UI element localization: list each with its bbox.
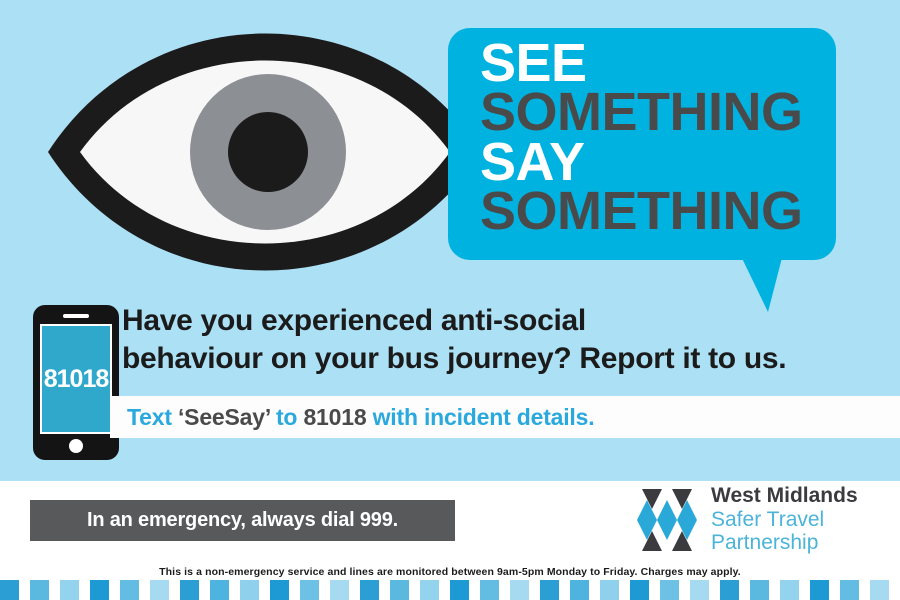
logo-line-1: West Midlands [711, 484, 858, 508]
strip-cell [420, 580, 439, 600]
strip-cell [210, 580, 229, 600]
phone-screen: 81018 [40, 324, 112, 434]
slogan-line-something-1: SOMETHING [480, 87, 830, 138]
strip-cell [810, 580, 829, 600]
instruction-part-3: 81018 [303, 404, 366, 430]
logo-wordmark: West Midlands Safer Travel Partnership [711, 484, 858, 555]
strip-cell [540, 580, 559, 600]
strip-cell [390, 580, 409, 600]
slogan: SEE SOMETHING SAY SOMETHING [480, 38, 830, 235]
headline-line-2: behaviour on your bus journey? Report it… [122, 340, 882, 378]
west-midlands-safer-travel-logo: West Midlands Safer Travel Partnership [633, 487, 858, 555]
strip-cell [690, 580, 709, 600]
eye-icon [40, 22, 490, 282]
instruction-part-0: Text [127, 404, 178, 430]
strip-cell [780, 580, 799, 600]
logo-line-3: Partnership [711, 531, 858, 555]
instruction-part-1: ‘SeeSay’ [178, 404, 270, 430]
strip-cell [840, 580, 859, 600]
strip-cell [720, 580, 739, 600]
strip-cell [120, 580, 139, 600]
strip-cell [630, 580, 649, 600]
strip-cell [300, 580, 319, 600]
mobile-phone-icon: 81018 [33, 305, 119, 460]
poster-root: SEE SOMETHING SAY SOMETHING 81018 Have y… [0, 0, 900, 600]
headline: Have you experienced anti-social behavio… [122, 302, 882, 379]
strip-cell [750, 580, 769, 600]
strip-cell [60, 580, 79, 600]
decorative-checker-strip [0, 580, 900, 600]
strip-cell [240, 580, 259, 600]
logo-line-2: Safer Travel [711, 508, 858, 532]
emergency-notice: In an emergency, always dial 999. [30, 500, 455, 541]
strip-cell [360, 580, 379, 600]
instruction-part-2: to [270, 404, 304, 430]
fineprint: This is a non-emergency service and line… [0, 566, 900, 578]
strip-cell [180, 580, 199, 600]
west-midlands-diamond-logo-icon [633, 487, 701, 553]
phone-shortcode: 81018 [44, 365, 109, 394]
strip-cell [660, 580, 679, 600]
instruction-part-4: with incident details. [366, 404, 594, 430]
strip-cell [30, 580, 49, 600]
instruction-band: Text ‘SeeSay’ to 81018 with incident det… [110, 396, 900, 438]
strip-cell [90, 580, 109, 600]
strip-cell [870, 580, 889, 600]
phone-speaker [63, 314, 89, 318]
emergency-notice-label: In an emergency, always dial 999. [87, 509, 398, 532]
strip-cell [570, 580, 589, 600]
slogan-line-something-2: SOMETHING [480, 186, 830, 237]
strip-cell [450, 580, 469, 600]
strip-cell [480, 580, 499, 600]
headline-line-1: Have you experienced anti-social [122, 302, 882, 340]
phone-home-button [69, 439, 83, 453]
strip-cell [510, 580, 529, 600]
instruction-text: Text ‘SeeSay’ to 81018 with incident det… [110, 404, 594, 431]
strip-cell [270, 580, 289, 600]
strip-cell [330, 580, 349, 600]
strip-cell [150, 580, 169, 600]
strip-cell [600, 580, 619, 600]
strip-cell [0, 580, 19, 600]
